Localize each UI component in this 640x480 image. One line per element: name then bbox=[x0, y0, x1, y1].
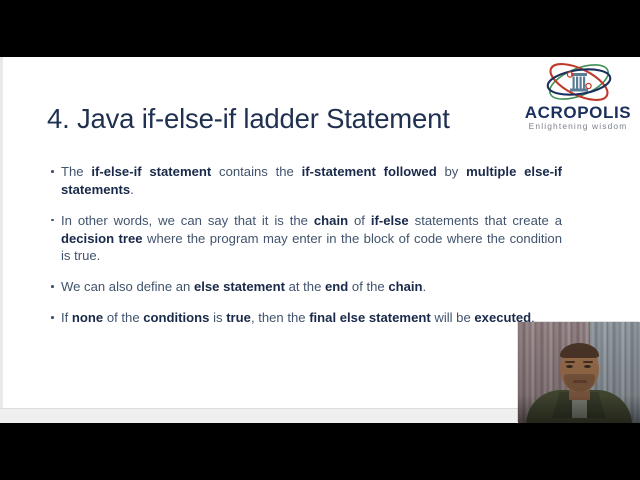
list-item: We can also define an else statement at … bbox=[50, 278, 562, 296]
list-item: The if-else-if statement contains the if… bbox=[50, 163, 562, 199]
video-player-screen: 4. Java if-else-if ladder Statement ACRO bbox=[0, 0, 640, 480]
slide-left-edge bbox=[0, 57, 3, 408]
letterbox-top bbox=[0, 0, 640, 57]
page-title: 4. Java if-else-if ladder Statement bbox=[47, 103, 450, 135]
list-item: In other words, we can say that it is th… bbox=[50, 212, 562, 265]
presenter-webcam-overlay[interactable] bbox=[518, 322, 640, 423]
letterbox-bottom bbox=[0, 423, 640, 480]
slide-bullet-list: The if-else-if statement contains the if… bbox=[50, 150, 562, 338]
acropolis-logo: ACROPOLIS Enlightening wisdom bbox=[520, 59, 636, 137]
acropolis-wordmark: ACROPOLIS bbox=[520, 103, 636, 123]
list-item: If none of the conditions is true, then … bbox=[50, 309, 562, 327]
acropolis-tagline: Enlightening wisdom bbox=[520, 121, 636, 131]
acropolis-logo-mark bbox=[540, 59, 618, 105]
webcam-vignette bbox=[518, 322, 640, 423]
